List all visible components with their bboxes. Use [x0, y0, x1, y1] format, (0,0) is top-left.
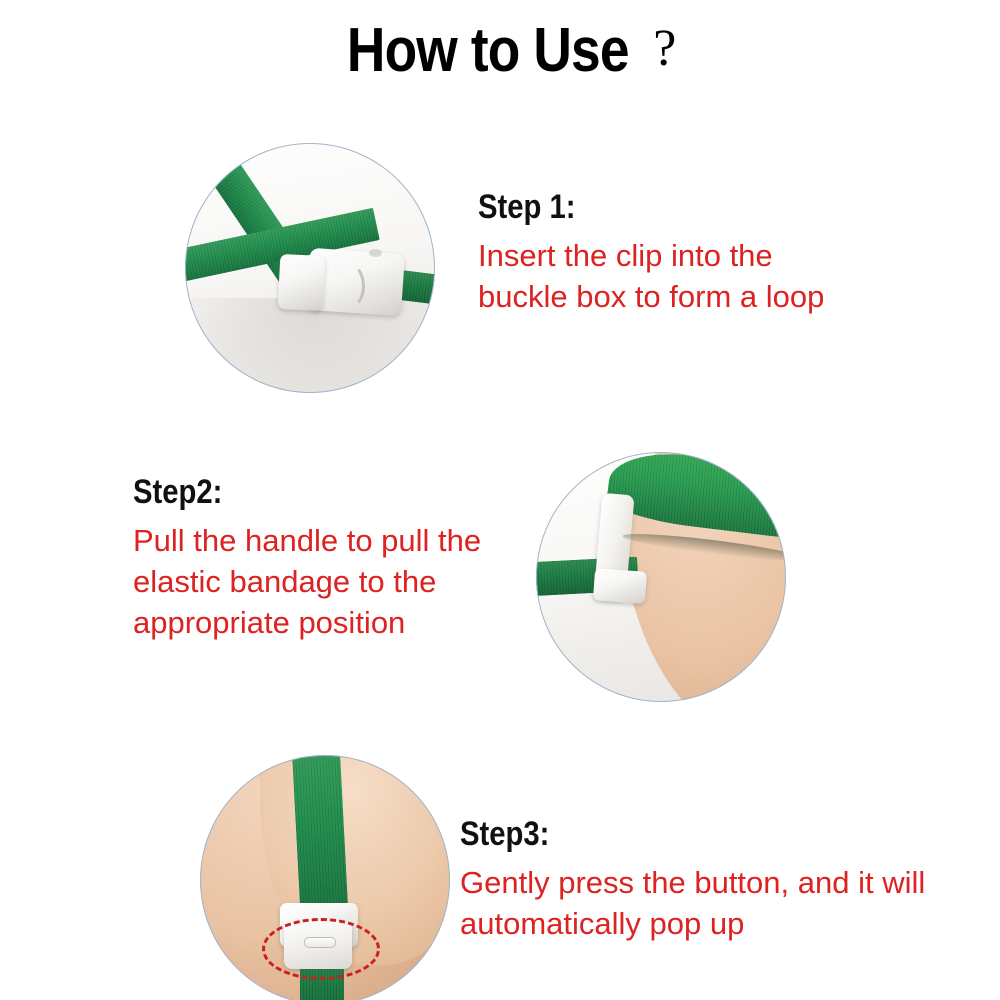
page-title: How to Use?: [0, 18, 1000, 84]
step-1-body: Insert the clip into the buckle box to f…: [478, 235, 948, 317]
red-dashed-highlight-ellipse: [262, 918, 380, 980]
white-clip: [278, 254, 326, 311]
green-band-upper: [292, 755, 349, 916]
page-title-text: How to Use: [347, 18, 629, 84]
photo-step-3: [200, 755, 450, 1000]
step-3-heading: Step3:: [460, 815, 873, 853]
photo-step-2-scene: [536, 452, 786, 702]
photo-step-1-scene: [185, 143, 435, 393]
white-buckle-base: [593, 568, 647, 604]
page-title-question-mark: ?: [653, 16, 676, 82]
how-to-use-page: How to Use? Step 1: Insert the clip into…: [0, 0, 1000, 1000]
buckle-arc-detail: [333, 263, 365, 309]
step-2-heading: Step2:: [133, 473, 494, 511]
photo-step-2: [536, 452, 786, 702]
buckle-release-button: [369, 249, 382, 257]
photo-step-3-scene: [200, 755, 450, 1000]
step-3-text-block: Step3: Gently press the button, and it w…: [460, 815, 940, 944]
step-2-body: Pull the handle to pull the elastic band…: [133, 520, 553, 643]
step-2-text-block: Step2: Pull the handle to pull the elast…: [133, 473, 553, 643]
step-3-body: Gently press the button, and it will aut…: [460, 862, 940, 944]
step-1-text-block: Step 1: Insert the clip into the buckle …: [478, 188, 948, 317]
photo-step-1: [185, 143, 435, 393]
step-1-heading: Step 1:: [478, 188, 882, 226]
